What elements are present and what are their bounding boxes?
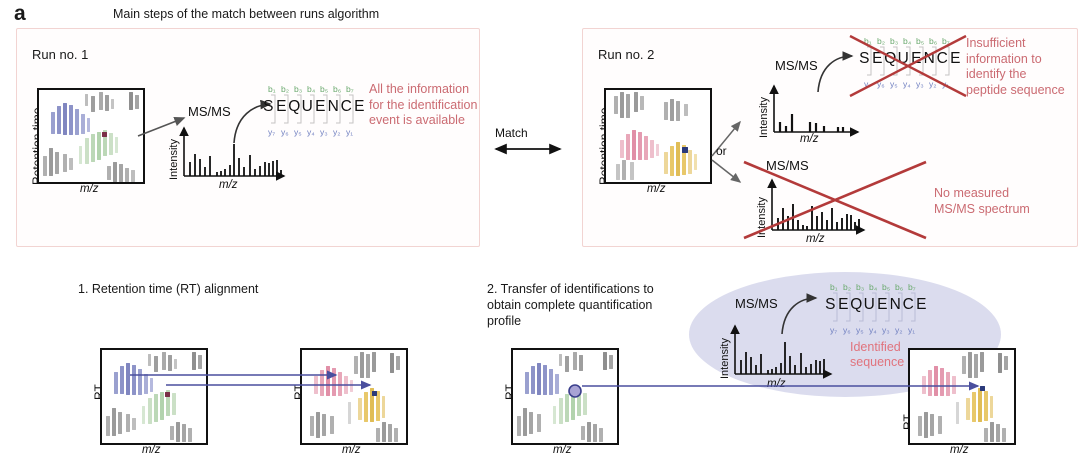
- step1-left-x-axis-label: m/z: [142, 444, 161, 456]
- seq-letter: C: [902, 296, 915, 314]
- y-ion-label: y₅: [856, 325, 869, 335]
- run2-label: Run no. 2: [598, 47, 654, 62]
- y-ion-label: y₇: [830, 325, 843, 335]
- run2-lower-annotation: No measured MS/MS spectrum: [934, 186, 1064, 217]
- match-double-arrow: [490, 142, 570, 158]
- step2-label: 2. Transfer of identifications to obtain…: [487, 281, 654, 329]
- seq-letter: N: [889, 296, 902, 314]
- seq-letter: U: [863, 296, 876, 314]
- seq-letter: E: [275, 98, 288, 116]
- step2-sequence-letters: S E Q U E N C E: [824, 296, 928, 314]
- seq-letter: Q: [288, 98, 301, 116]
- y-ion-label: y₂: [333, 127, 346, 137]
- run2-feature-map: [604, 88, 712, 184]
- step1-alignment-arrows: [128, 358, 378, 408]
- seq-letter: E: [876, 296, 889, 314]
- step2-y-ion-row: y₇ y₆ y₅ y₄ y₃ y₂ y₁: [830, 325, 921, 335]
- run1-selected-feature-marker: [102, 132, 107, 137]
- seq-letter: E: [915, 296, 928, 314]
- figure-title: Main steps of the match between runs alg…: [113, 7, 379, 21]
- run1-feature-map: [37, 88, 145, 184]
- run1-x-axis-label: m/z: [80, 183, 99, 195]
- seq-letter: S: [824, 296, 837, 314]
- run2-lower-cross-out-icon: [740, 156, 930, 244]
- seq-letter: U: [301, 98, 314, 116]
- seq-letter: C: [340, 98, 353, 116]
- run1-annotation: All the information for the identificati…: [369, 82, 479, 129]
- y-ion-label: y₅: [294, 127, 307, 137]
- step2-transfer-arrow: [580, 376, 986, 396]
- run1-msms-label: MS/MS: [188, 104, 231, 119]
- step2-sequence-block: b₁ b₂ b₃ b₄ b₅ b₆ b₇ S E Q U E N C E y₇ …: [824, 282, 932, 340]
- y-ion-label: y₁: [346, 127, 359, 137]
- y-ion-label: y₂: [895, 325, 908, 335]
- step2-left-x-axis-label: m/z: [553, 444, 572, 456]
- seq-letter: E: [353, 98, 366, 116]
- step2-left-feature-map: [511, 348, 619, 445]
- y-ion-label: y₆: [281, 127, 294, 137]
- run2-selected-feature-marker: [682, 147, 688, 153]
- step2-right-feature-map: [908, 348, 1016, 445]
- run1-spectrum-x-label: m/z: [219, 179, 238, 191]
- y-ion-label: y₃: [882, 325, 895, 335]
- y-ion-label: y₄: [869, 325, 882, 335]
- panel-letter: a: [14, 2, 26, 26]
- run1-y-ion-row: y₇ y₆ y₅ y₄ y₃ y₂ y₁: [268, 127, 359, 137]
- run2-upper-cross-out-icon: [846, 30, 970, 102]
- step1-right-x-axis-label: m/z: [342, 444, 361, 456]
- y-ion-label: y₆: [843, 325, 856, 335]
- seq-letter: N: [327, 98, 340, 116]
- run1-sequence-letters: S E Q U E N C E: [262, 98, 366, 116]
- or-label: or: [716, 144, 727, 158]
- step1-label: 1. Retention time (RT) alignment: [78, 281, 258, 297]
- y-ion-label: y₄: [307, 127, 320, 137]
- step2-spectrum-to-sequence-arrow: [776, 290, 828, 338]
- y-ion-label: y₁: [908, 325, 921, 335]
- y-ion-label: y₇: [268, 127, 281, 137]
- match-label: Match: [495, 126, 528, 140]
- run1-sequence-block: b₁ b₂ b₃ b₄ b₅ b₆ b₇ S E Q U E N C E y₇ …: [262, 84, 370, 142]
- seq-letter: E: [314, 98, 327, 116]
- seq-letter: S: [262, 98, 275, 116]
- seq-letter: Q: [850, 296, 863, 314]
- step2-right-x-axis-label: m/z: [950, 444, 969, 456]
- y-ion-label: y₃: [320, 127, 333, 137]
- seq-letter: E: [837, 296, 850, 314]
- run2-upper-annotation: Insufficient information to identify the…: [966, 36, 1086, 98]
- step2-msms-label: MS/MS: [735, 296, 778, 311]
- run1-label: Run no. 1: [32, 47, 88, 62]
- run2-upper-spectrum-x-label: m/z: [800, 133, 819, 145]
- run2-x-axis-label: m/z: [647, 183, 666, 195]
